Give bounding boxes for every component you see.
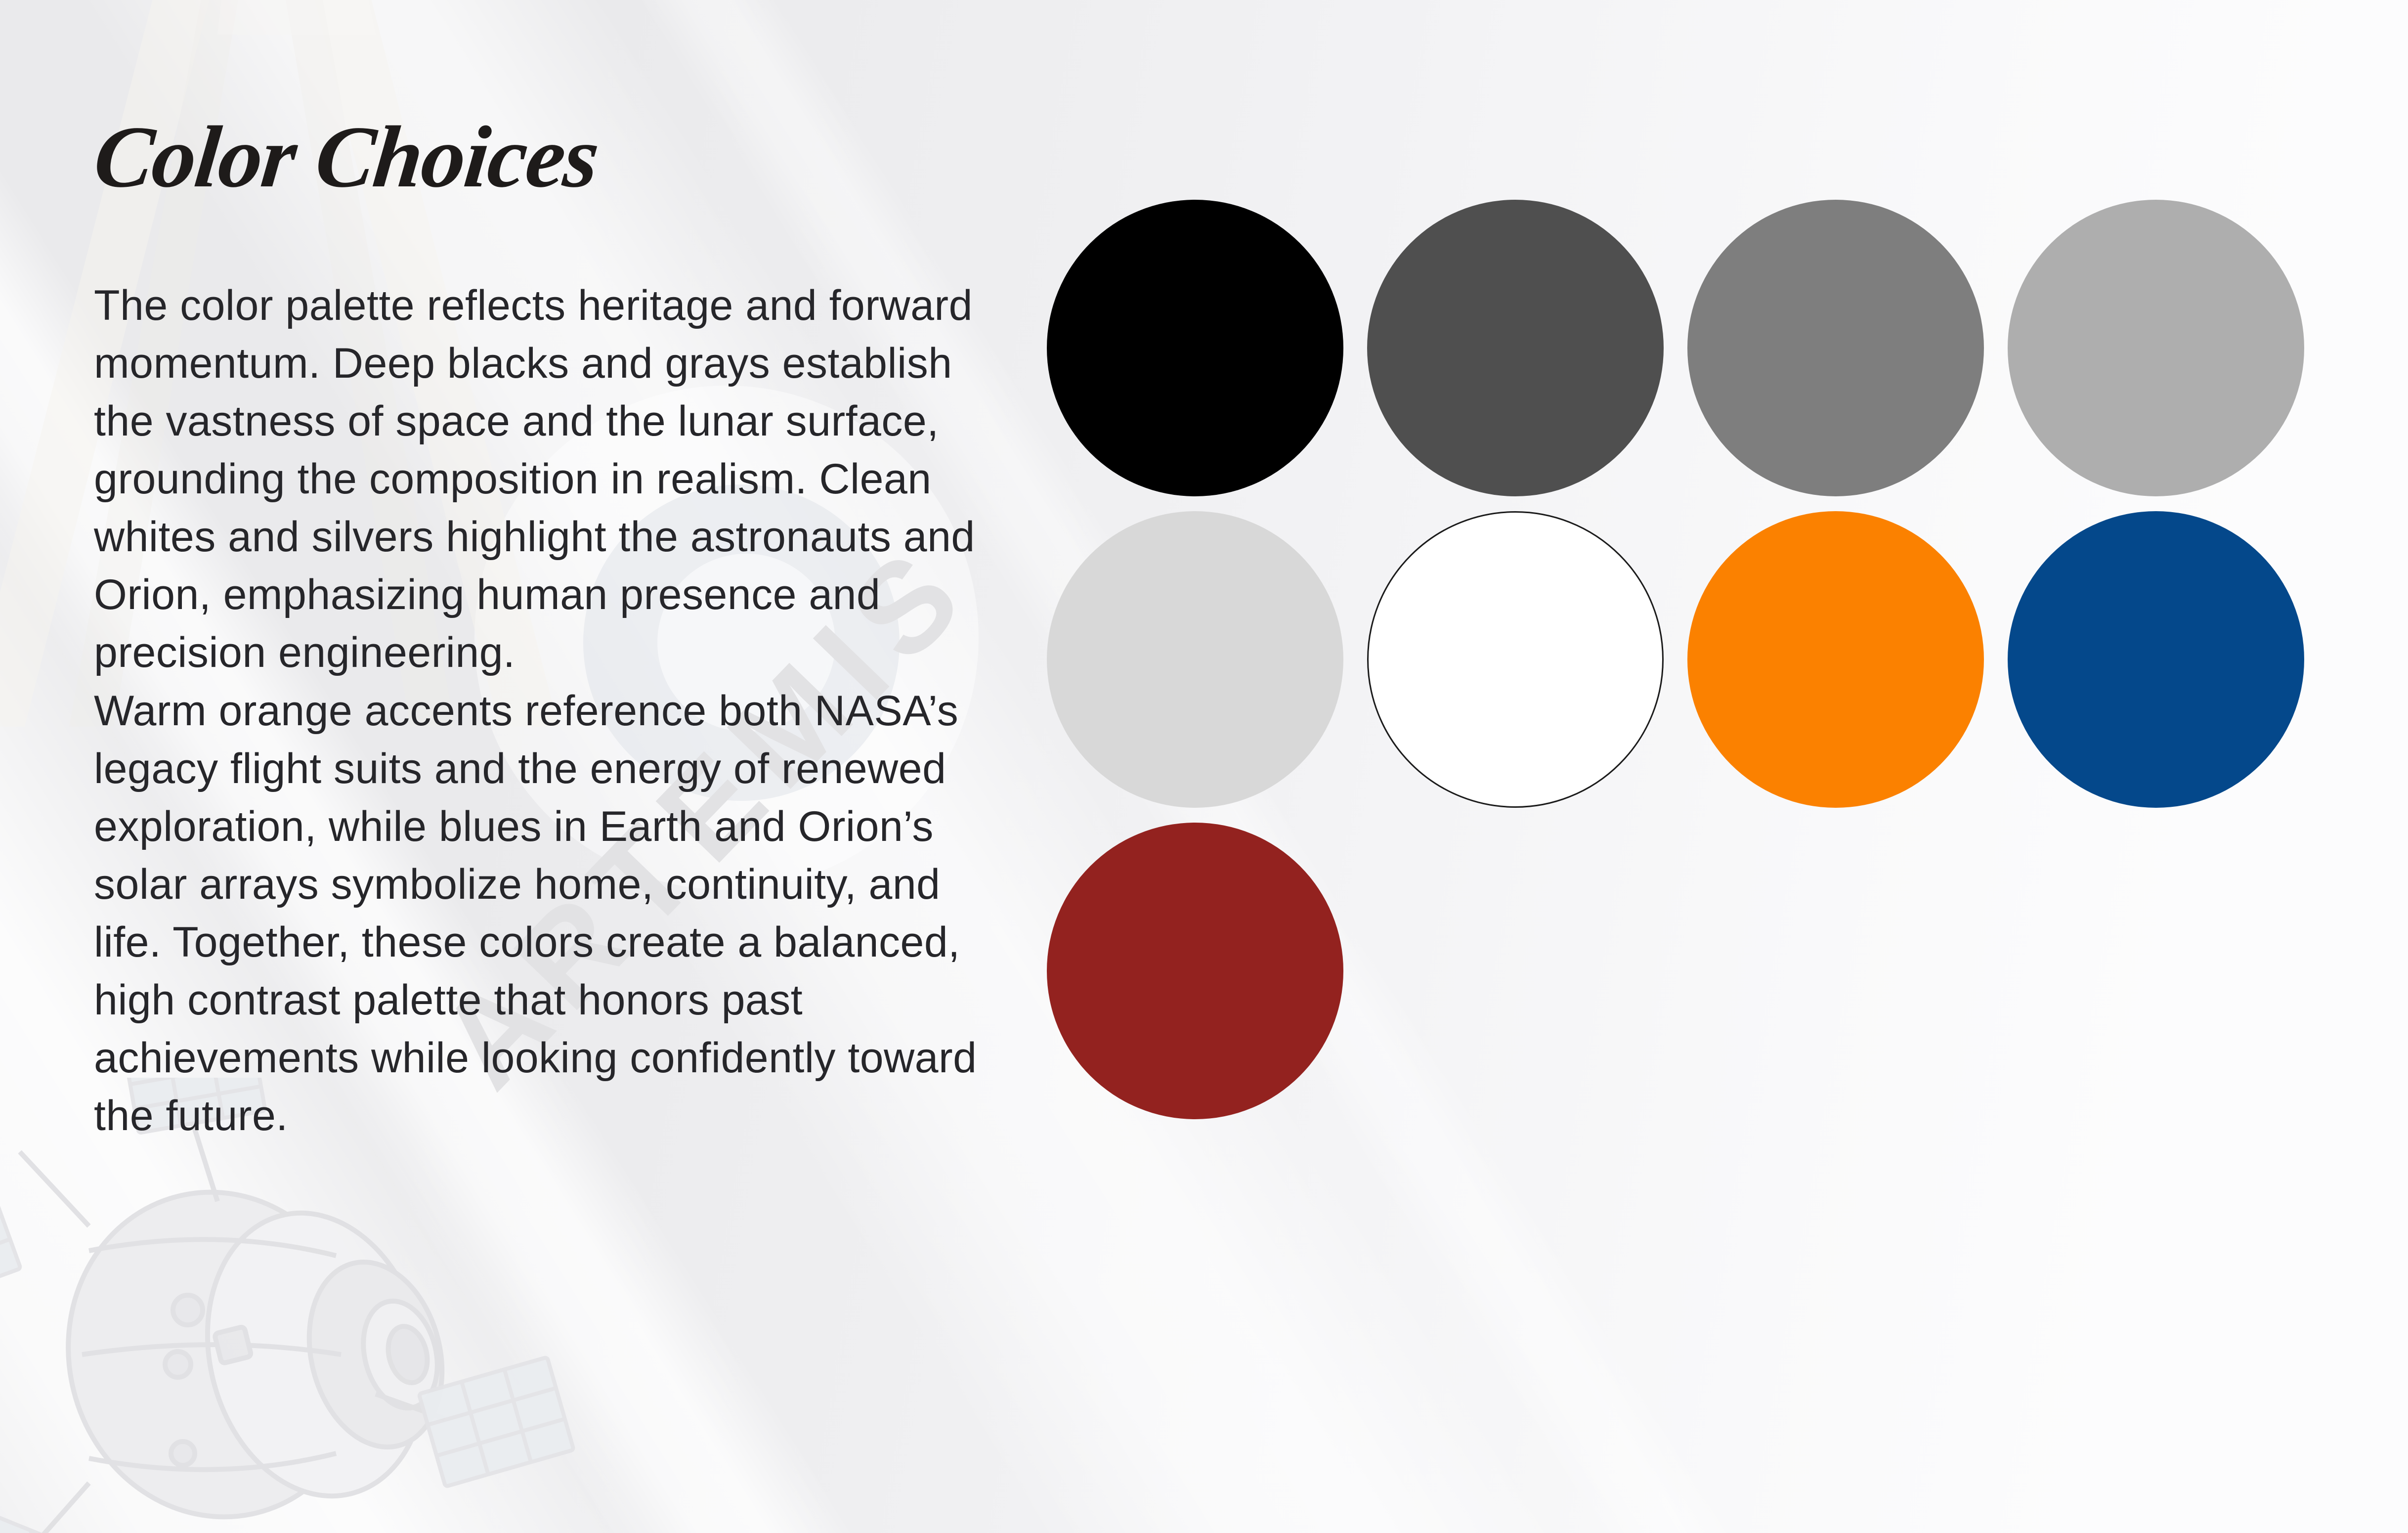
- slide-canvas: ER, BACK TO THE MOON & BEYOND ARTEMIS: [0, 0, 2408, 1533]
- body-paragraph-1: The color palette reflects heritage and …: [94, 277, 979, 682]
- color-swatch-blue[interactable]: [2008, 511, 2304, 808]
- page-title: Color Choices: [90, 113, 602, 201]
- color-palette-swatches: [1047, 200, 2328, 1119]
- color-swatch-light-gray[interactable]: [2008, 200, 2304, 496]
- swatch-row-3: [1047, 823, 2328, 1119]
- color-swatch-white[interactable]: [1367, 511, 1664, 808]
- color-swatch-medium-gray[interactable]: [1687, 200, 1984, 496]
- swatch-row-2: [1047, 511, 2328, 808]
- color-swatch-dark-gray[interactable]: [1367, 200, 1664, 496]
- color-swatch-orange[interactable]: [1687, 511, 1984, 808]
- body-paragraph-2: Warm orange accents reference both NASA’…: [94, 682, 979, 1145]
- color-swatch-silver[interactable]: [1047, 511, 1343, 808]
- color-swatch-red[interactable]: [1047, 823, 1343, 1119]
- orion-spacecraft-icon: [0, 1078, 633, 1533]
- color-swatch-black[interactable]: [1047, 200, 1343, 496]
- swatch-row-1: [1047, 200, 2328, 496]
